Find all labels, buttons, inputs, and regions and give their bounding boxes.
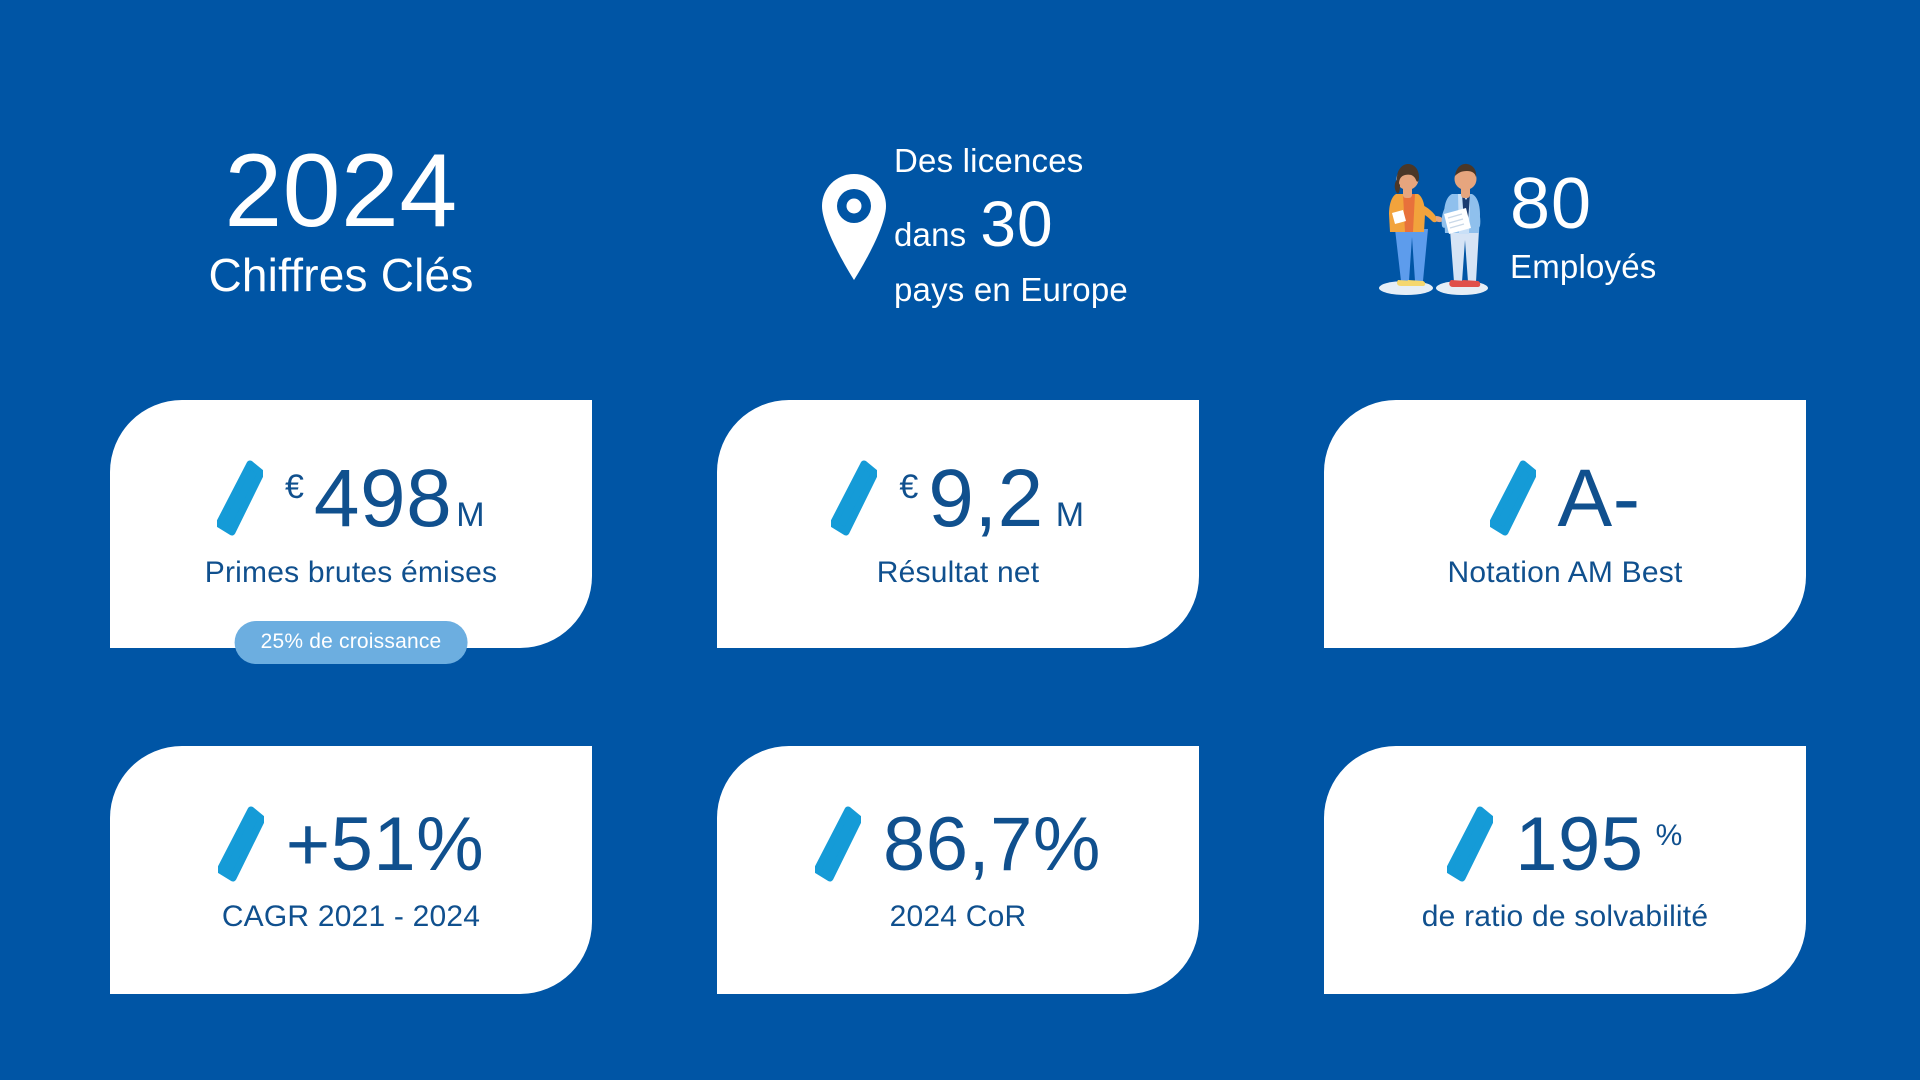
licences-line-1: Des licences <box>894 139 1083 183</box>
licences-line-2-prefix: dans <box>894 213 966 257</box>
map-pin-icon <box>820 172 888 282</box>
employees-count: 80 <box>1510 168 1657 240</box>
licences-summary: Des licences dans 30 pays en Europe <box>820 135 1150 315</box>
licences-country-count: 30 <box>980 182 1053 267</box>
currency-symbol: € <box>285 468 304 507</box>
kpi-card-notation-am-best[interactable]: A- Notation AM Best <box>1324 400 1806 648</box>
kpi-card-cagr[interactable]: +51% CAGR 2021 - 2024 <box>110 746 592 994</box>
kpi-label: CAGR 2021 - 2024 <box>222 900 480 934</box>
currency-symbol: € <box>899 468 918 507</box>
kpi-card-resultat-net[interactable]: € 9,2 M Résultat net <box>717 400 1199 648</box>
infographic-root: 2024 Chiffres Clés Des licences dans 30 <box>0 0 1920 1080</box>
kpi-value: +51% <box>286 807 485 883</box>
kpi-unit: M <box>456 496 485 535</box>
kpi-value: 86,7% <box>883 807 1101 883</box>
kpi-unit: % <box>1656 819 1683 853</box>
slash-accent-icon <box>218 806 264 884</box>
licences-text: Des licences dans 30 pays en Europe <box>894 139 1128 312</box>
slash-accent-icon <box>1447 806 1493 884</box>
employees-summary: 80 Employés <box>1368 137 1708 317</box>
employees-text: 80 Employés <box>1510 168 1657 286</box>
page-title-year: 2024 <box>176 143 506 241</box>
kpi-label: 2024 CoR <box>890 900 1027 934</box>
two-people-illustration-icon <box>1368 156 1496 298</box>
page-title-subtitle: Chiffres Clés <box>176 247 506 305</box>
kpi-card-grid: € 498 M Primes brutes émises 25% de croi… <box>110 400 1810 994</box>
kpi-card-ratio-solvabilite[interactable]: 195 % de ratio de solvabilité <box>1324 746 1806 994</box>
slash-accent-icon <box>815 806 861 884</box>
kpi-card-primes-brutes-emises[interactable]: € 498 M Primes brutes émises 25% de croi… <box>110 400 592 648</box>
kpi-value: 195 <box>1515 807 1643 883</box>
kpi-label: de ratio de solvabilité <box>1422 900 1708 934</box>
kpi-label: Résultat net <box>877 556 1040 590</box>
kpi-card-cor-2024[interactable]: 86,7% 2024 CoR <box>717 746 1199 994</box>
slash-accent-icon <box>217 460 263 538</box>
title-block: 2024 Chiffres Clés <box>176 143 506 304</box>
growth-badge[interactable]: 25% de croissance <box>235 621 468 664</box>
kpi-value: 9,2 <box>928 458 1044 540</box>
slash-accent-icon <box>831 460 877 538</box>
licences-line-3: pays en Europe <box>894 268 1128 312</box>
kpi-label: Notation AM Best <box>1448 556 1683 590</box>
kpi-value: 498 <box>314 458 452 540</box>
kpi-unit: M <box>1056 496 1085 535</box>
kpi-label: Primes brutes émises <box>205 556 497 590</box>
kpi-value: A- <box>1558 458 1641 540</box>
employees-label: Employés <box>1510 248 1657 286</box>
top-summary-band: 2024 Chiffres Clés Des licences dans 30 <box>0 125 1920 350</box>
slash-accent-icon <box>1490 460 1536 538</box>
